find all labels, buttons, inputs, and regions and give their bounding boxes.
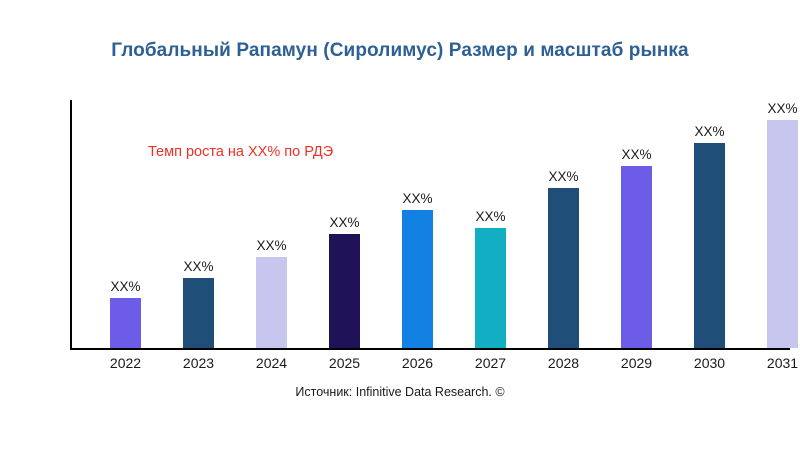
bar[interactable] [548,188,579,348]
bar-group: XX% [402,184,433,348]
x-tick-label-2028: 2028 [529,355,599,371]
bar-value-label: XX% [529,169,599,184]
x-tick-label-2025: 2025 [310,355,380,371]
bar-value-label: XX% [675,124,745,139]
bar[interactable] [256,257,287,348]
bar-group: XX% [767,94,798,348]
x-tick-label-2022: 2022 [91,355,161,371]
bar[interactable] [475,228,506,348]
x-axis-tick-labels: 2022202320242025202620272028202920302031 [70,355,790,377]
x-tick-label-2024: 2024 [237,355,307,371]
bar-group: XX% [256,231,287,348]
growth-rate-annotation: Темп роста на XX% по РДЭ [148,144,333,160]
bar[interactable] [621,166,652,348]
bar-group: XX% [621,140,652,348]
bar-value-label: XX% [383,191,453,206]
bar-group: XX% [475,202,506,348]
bar-value-label: XX% [748,101,800,116]
bar[interactable] [402,210,433,348]
x-tick-label-2027: 2027 [456,355,526,371]
bar[interactable] [183,278,214,348]
bar-group: XX% [329,208,360,348]
x-axis-line [70,348,790,350]
bar[interactable] [767,120,798,348]
plot-area: XX%XX%XX%XX%XX%XX%XX%XX%XX%XX% [70,100,790,350]
x-tick-label-2030: 2030 [675,355,745,371]
bar[interactable] [329,234,360,348]
y-axis-line [70,100,72,350]
bar-group: XX% [110,272,141,348]
bar-group: XX% [548,162,579,348]
bar-value-label: XX% [164,259,234,274]
bar-group: XX% [183,252,214,348]
x-tick-label-2023: 2023 [164,355,234,371]
bar-value-label: XX% [237,238,307,253]
x-tick-label-2029: 2029 [602,355,672,371]
bar-value-label: XX% [91,279,161,294]
bar[interactable] [694,143,725,348]
source-note: Источник: Infinitive Data Research. © [0,385,800,399]
x-tick-label-2026: 2026 [383,355,453,371]
chart-container: Глобальный Рапамун (Сиролимус) Размер и … [0,0,800,450]
bar-value-label: XX% [602,147,672,162]
bar-group: XX% [694,117,725,348]
x-tick-label-2031: 2031 [748,355,800,371]
chart-title: Глобальный Рапамун (Сиролимус) Размер и … [0,40,800,62]
bar[interactable] [110,298,141,348]
bar-value-label: XX% [310,215,380,230]
bar-value-label: XX% [456,209,526,224]
